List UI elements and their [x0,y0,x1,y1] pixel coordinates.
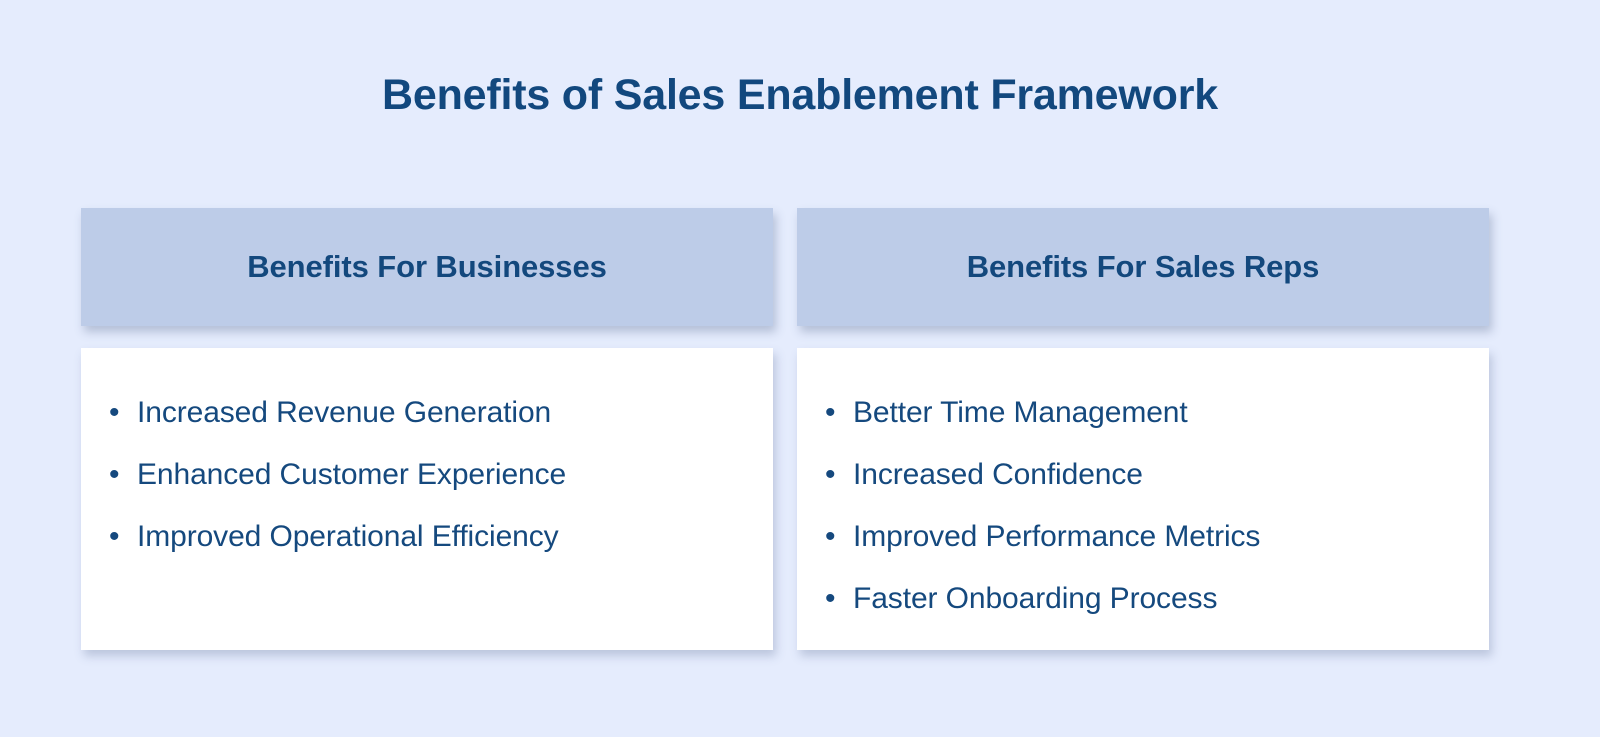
list-item: • Better Time Management [823,382,1463,444]
bullet-icon: • [107,506,137,568]
list-item: • Increased Revenue Generation [107,382,747,444]
column-header-sales-reps: Benefits For Sales Reps [797,208,1489,326]
bullet-icon: • [823,568,853,630]
column-body-sales-reps: • Better Time Management • Increased Con… [797,348,1489,650]
benefit-list-sales-reps: • Better Time Management • Increased Con… [823,382,1463,630]
list-item: • Increased Confidence [823,444,1463,506]
benefit-list-businesses: • Increased Revenue Generation • Enhance… [107,382,747,568]
benefit-label: Better Time Management [853,382,1463,444]
column-body-businesses: • Increased Revenue Generation • Enhance… [81,348,773,650]
bullet-icon: • [823,444,853,506]
bullet-icon: • [107,444,137,506]
bullet-icon: • [823,382,853,444]
column-header-businesses: Benefits For Businesses [81,208,773,326]
benefits-columns: Benefits For Businesses • Increased Reve… [81,208,1489,650]
benefit-label: Improved Operational Efficiency [137,506,747,568]
benefit-label: Increased Revenue Generation [137,382,747,444]
list-item: • Enhanced Customer Experience [107,444,747,506]
benefit-label: Improved Performance Metrics [853,506,1463,568]
page-title: Benefits of Sales Enablement Framework [0,72,1600,119]
list-item: • Improved Operational Efficiency [107,506,747,568]
list-item: • Improved Performance Metrics [823,506,1463,568]
benefit-label: Enhanced Customer Experience [137,444,747,506]
benefit-label: Increased Confidence [853,444,1463,506]
bullet-icon: • [823,506,853,568]
column-header-label: Benefits For Sales Reps [967,249,1320,285]
benefit-label: Faster Onboarding Process [853,568,1463,630]
column-header-label: Benefits For Businesses [247,249,606,285]
bullet-icon: • [107,382,137,444]
benefits-column-businesses: Benefits For Businesses • Increased Reve… [81,208,773,650]
benefits-column-sales-reps: Benefits For Sales Reps • Better Time Ma… [797,208,1489,650]
list-item: • Faster Onboarding Process [823,568,1463,630]
slide-canvas: Benefits of Sales Enablement Framework B… [0,0,1600,737]
